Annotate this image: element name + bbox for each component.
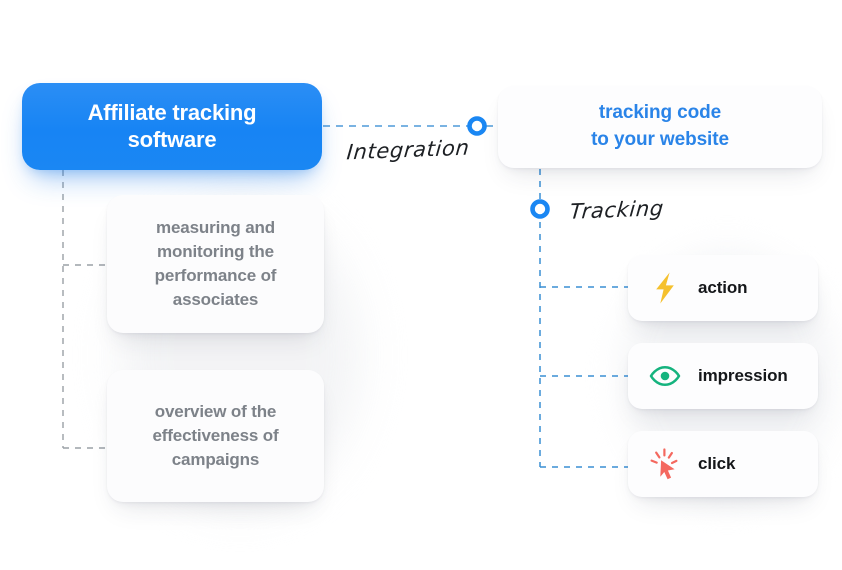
tracking-code-label: tracking code to your website [591,100,729,154]
annotation-tracking: Tracking [569,196,665,224]
tracking-item-action[interactable]: action [628,255,818,321]
root-node-label: Affiliate tracking software [88,100,257,154]
diagram-canvas: Affiliate tracking software measuring an… [0,0,842,570]
integration-node-dot [470,119,485,134]
tracking-code-card[interactable]: tracking code to your website [498,86,822,168]
lightning-bolt-icon [648,271,682,305]
tracking-item-click[interactable]: click [628,431,818,497]
tracking-item-label: impression [698,366,788,386]
eye-icon [648,359,682,393]
tracking-item-impression[interactable]: impression [628,343,818,409]
click-cursor-icon [648,447,682,481]
tracking-node-dot [533,202,548,217]
description-card[interactable]: overview of the effectiveness of campaig… [107,370,324,502]
description-card-label: measuring and monitoring the performance… [155,216,277,313]
annotation-integration: Integration [346,136,471,165]
root-node-card[interactable]: Affiliate tracking software [22,83,322,170]
tracking-item-label: action [698,278,747,298]
description-card-label: overview of the effectiveness of campaig… [152,400,278,472]
description-card[interactable]: measuring and monitoring the performance… [107,195,324,333]
tracking-item-label: click [698,454,735,474]
